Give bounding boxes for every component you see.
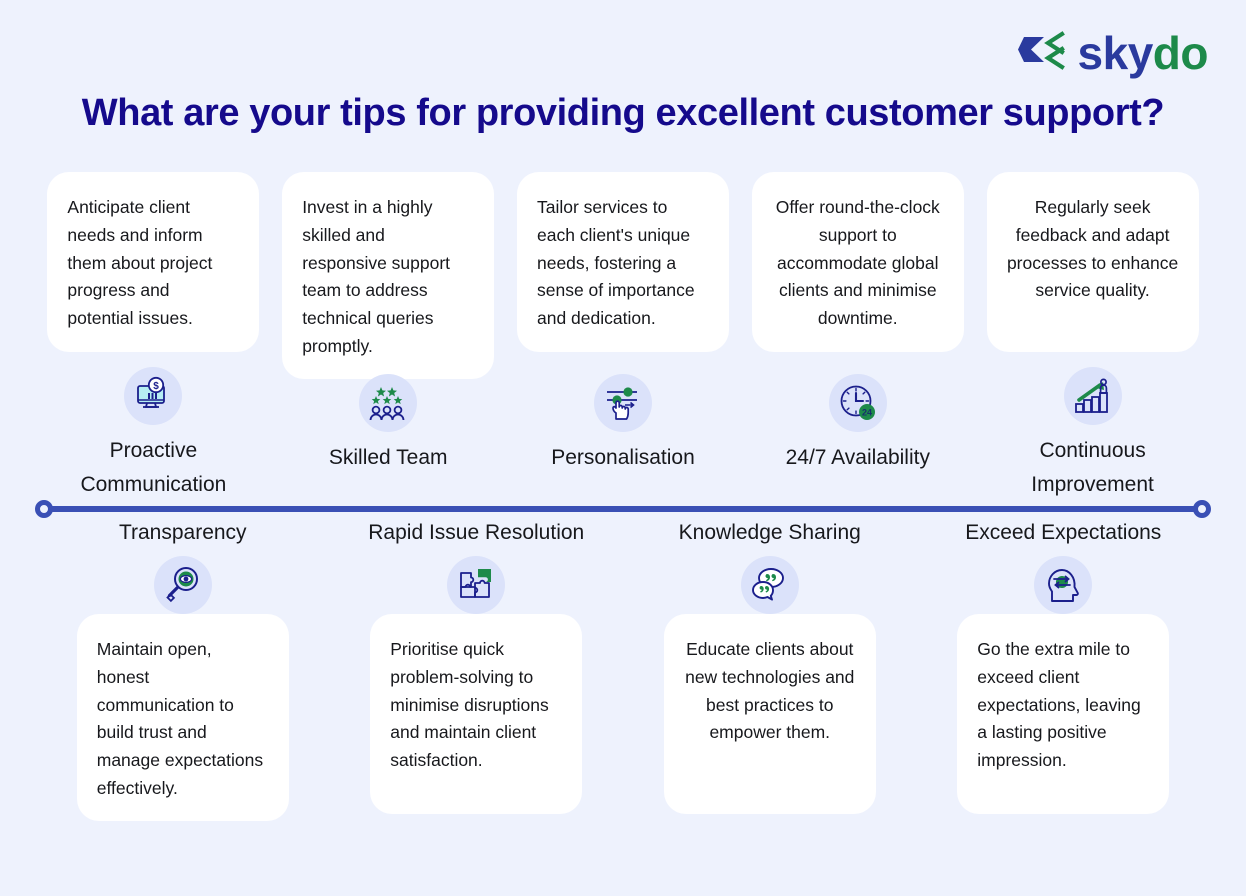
logo-text-sky: sky bbox=[1078, 27, 1153, 79]
card-wrap: Regularly seek feedback and adapt proces… bbox=[987, 172, 1199, 355]
item-label: Personalisation bbox=[551, 441, 695, 475]
card-wrap: Tailor services to each client's unique … bbox=[517, 172, 729, 362]
item-label: Skilled Team bbox=[329, 441, 448, 475]
card-wrap: Go the extra mile to exceed client expec… bbox=[957, 614, 1169, 814]
card-wrap: Invest in a highly skilled and responsiv… bbox=[282, 172, 494, 362]
item-skilled-team[interactable]: Invest in a highly skilled and responsiv… bbox=[271, 172, 506, 502]
speech-bubbles-quotes-icon bbox=[741, 556, 799, 614]
icon-slot bbox=[359, 374, 417, 432]
item-card: Anticipate client needs and inform them … bbox=[47, 172, 259, 352]
item-24-7-availability[interactable]: Offer round-the-clock support to accommo… bbox=[740, 172, 975, 502]
item-exceed-expectations[interactable]: Exceed Expectations Go the extra mile to… bbox=[917, 516, 1211, 861]
card-wrap: Anticipate client needs and inform them … bbox=[47, 172, 259, 355]
monitor-dollar-icon: $ bbox=[124, 367, 182, 425]
item-label: Knowledge Sharing bbox=[679, 516, 861, 550]
icon-slot: 24 bbox=[829, 374, 887, 432]
item-card: Prioritise quick problem-solving to mini… bbox=[370, 614, 582, 814]
item-transparency[interactable]: Transparency Maintain open, honest commu… bbox=[36, 516, 330, 861]
item-label: Proactive Communication bbox=[43, 434, 263, 502]
item-continuous-improvement[interactable]: Regularly seek feedback and adapt proces… bbox=[975, 172, 1210, 502]
logo-text-do: do bbox=[1153, 27, 1208, 79]
icon-slot: $ bbox=[124, 367, 182, 425]
item-proactive-communication[interactable]: Anticipate client needs and inform them … bbox=[36, 172, 271, 502]
item-card: Invest in a highly skilled and responsiv… bbox=[282, 172, 494, 379]
item-label: Continuous Improvement bbox=[983, 434, 1203, 502]
card-wrap: Offer round-the-clock support to accommo… bbox=[752, 172, 964, 362]
item-card: Maintain open, honest communication to b… bbox=[77, 614, 289, 821]
head-arrows-icon bbox=[1034, 556, 1092, 614]
icon-slot bbox=[594, 374, 652, 432]
item-knowledge-sharing[interactable]: Knowledge Sharing Educate cli bbox=[623, 516, 917, 861]
icon-slot bbox=[154, 556, 212, 614]
item-label: Transparency bbox=[119, 516, 247, 550]
svg-text:24: 24 bbox=[862, 408, 872, 418]
item-card: Regularly seek feedback and adapt proces… bbox=[987, 172, 1199, 352]
skydo-wordmark: skydo bbox=[1078, 30, 1208, 76]
icon-slot bbox=[1064, 367, 1122, 425]
card-wrap: Prioritise quick problem-solving to mini… bbox=[370, 614, 582, 814]
bottom-items-row: Transparency Maintain open, honest commu… bbox=[36, 516, 1210, 861]
sliders-hand-icon bbox=[594, 374, 652, 432]
clock-24-icon: 24 bbox=[829, 374, 887, 432]
item-card: Go the extra mile to exceed client expec… bbox=[957, 614, 1169, 814]
timeline-bar bbox=[42, 506, 1204, 512]
item-card: Offer round-the-clock support to accommo… bbox=[752, 172, 964, 352]
item-label: Exceed Expectations bbox=[965, 516, 1161, 550]
icon-slot bbox=[1034, 556, 1092, 614]
card-wrap: Maintain open, honest communication to b… bbox=[77, 614, 289, 821]
item-label: 24/7 Availability bbox=[786, 441, 930, 475]
icon-slot bbox=[447, 556, 505, 614]
card-wrap: Educate clients about new technologies a… bbox=[664, 614, 876, 814]
horizontal-timeline bbox=[36, 505, 1210, 513]
top-items-row: Anticipate client needs and inform them … bbox=[36, 172, 1210, 502]
icon-slot bbox=[741, 556, 799, 614]
skydo-chevron-mark bbox=[1018, 28, 1070, 77]
growth-chart-person-icon bbox=[1064, 367, 1122, 425]
item-rapid-issue-resolution[interactable]: Rapid Issue Resolution Prioritise quick … bbox=[330, 516, 624, 861]
skydo-logo: skydo bbox=[1018, 28, 1208, 77]
magnifier-eye-icon bbox=[154, 556, 212, 614]
puzzle-pieces-icon bbox=[447, 556, 505, 614]
item-card: Tailor services to each client's unique … bbox=[517, 172, 729, 352]
item-label: Rapid Issue Resolution bbox=[368, 516, 584, 550]
item-personalisation[interactable]: Tailor services to each client's unique … bbox=[506, 172, 741, 502]
item-card: Educate clients about new technologies a… bbox=[664, 614, 876, 814]
svg-text:$: $ bbox=[154, 381, 160, 392]
people-stars-icon bbox=[359, 374, 417, 432]
page-title: What are your tips for providing excelle… bbox=[0, 92, 1246, 135]
